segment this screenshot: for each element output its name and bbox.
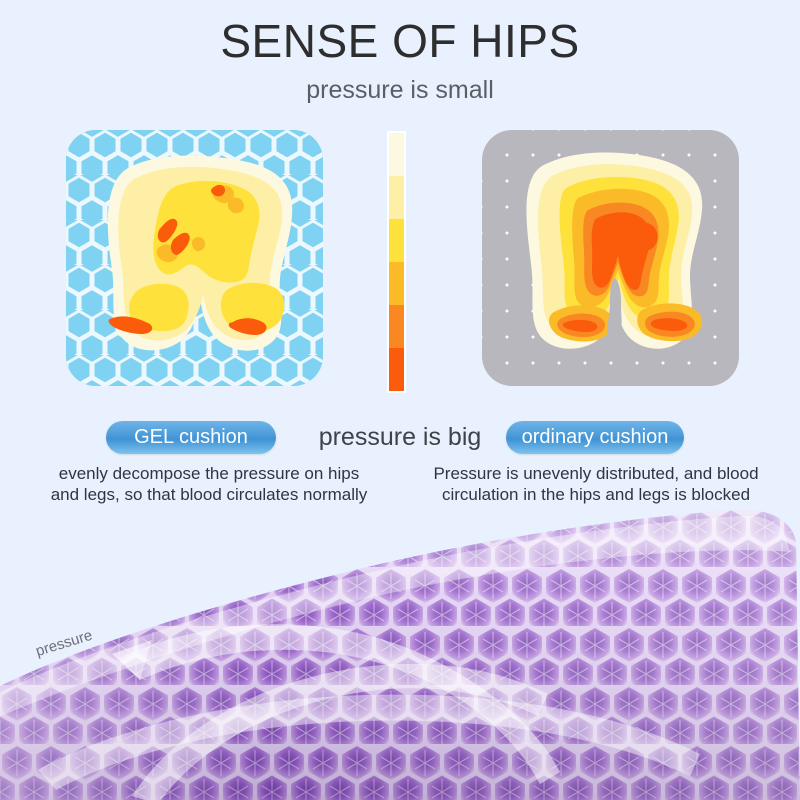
page-subtitle: pressure is small xyxy=(0,76,800,105)
gel-caption-line-2: and legs, so that blood circulates norma… xyxy=(18,484,400,505)
ordinary-cushion-label-text: ordinary cushion xyxy=(522,426,669,449)
scale-band-5 xyxy=(389,348,404,391)
ordinary-pressure-heatmap xyxy=(482,130,739,386)
ordinary-cushion-heatmap-panel xyxy=(482,130,739,386)
scale-band-3 xyxy=(389,262,404,305)
pressure-intensity-scale xyxy=(387,131,406,393)
scale-band-4 xyxy=(389,305,404,348)
scale-band-2 xyxy=(389,219,404,262)
gel-caption-line-1: evenly decompose the pressure on hips xyxy=(18,463,400,484)
ordinary-caption-line-2: circulation in the hips and legs is bloc… xyxy=(404,484,788,505)
product-photo: pressure pressure pressure xyxy=(0,508,800,800)
ordinary-caption-line-1: Pressure is unevenly distributed, and bl… xyxy=(404,463,788,484)
scale-band-1 xyxy=(389,176,404,219)
scale-band-0 xyxy=(389,133,404,176)
gel-cushion-caption: evenly decompose the pressure on hips an… xyxy=(18,463,400,505)
infographic-page: SENSE OF HIPS pressure is small xyxy=(0,0,800,800)
ordinary-cushion-label-pill: ordinary cushion xyxy=(506,421,684,454)
gel-cushion-label-text: GEL cushion xyxy=(134,426,248,449)
gel-cushion-label-pill: GEL cushion xyxy=(106,421,276,454)
ordinary-cushion-caption: Pressure is unevenly distributed, and bl… xyxy=(404,463,788,505)
page-title: SENSE OF HIPS xyxy=(0,14,800,68)
gel-pressure-heatmap xyxy=(66,130,323,386)
pressure-is-big-label: pressure is big xyxy=(300,423,500,452)
gel-cushion-heatmap-panel xyxy=(66,130,323,386)
